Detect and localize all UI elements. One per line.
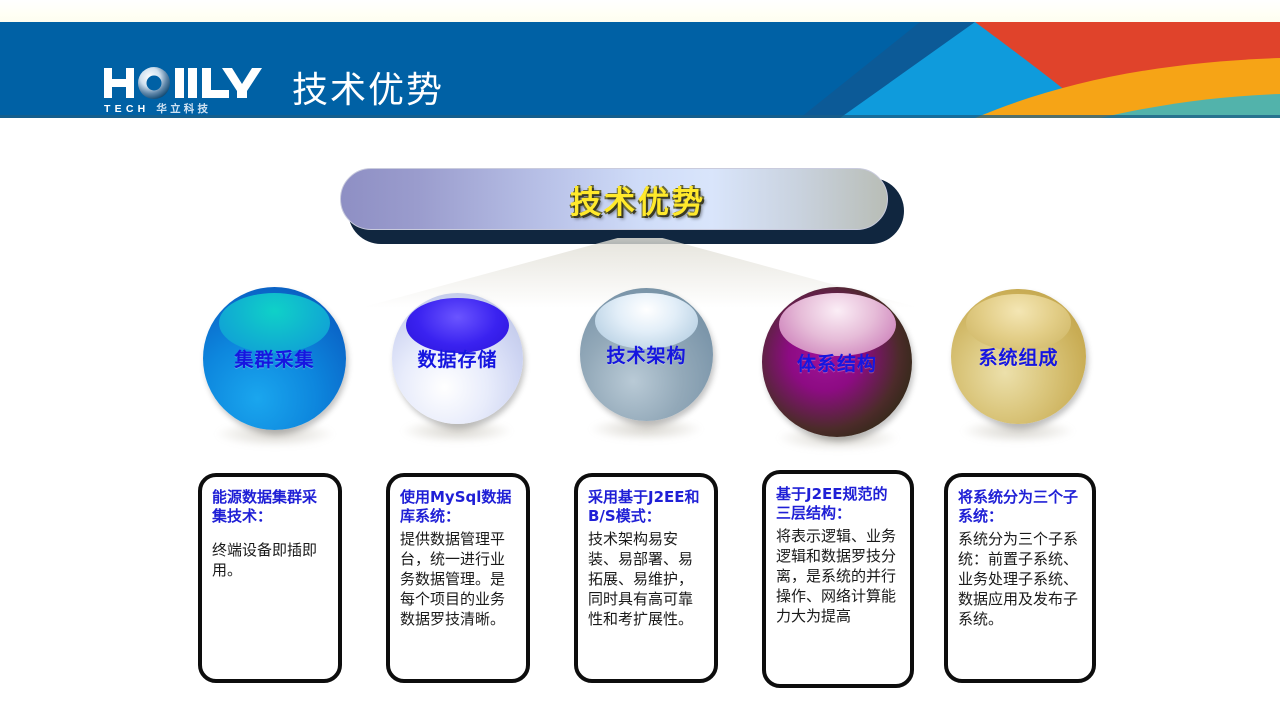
slide-root: TECH 华立科技 技术优势 技术优势 集群采集数据存储技术架构体系结构系统组成…: [0, 0, 1280, 720]
card-body: 提供数据管理平台，统一进行业务数据管理。是每个项目的业务数据罗技清晰。: [400, 529, 518, 629]
card-body: 终端设备即插即用。: [212, 540, 330, 580]
holley-wordmark: [104, 66, 268, 100]
sphere-highlight-cap: [779, 293, 896, 356]
title-banner: 技术优势: [340, 168, 896, 240]
card-1[interactable]: 能源数据集群采集技术：终端设备即插即用。: [198, 473, 342, 683]
logo-tech-text: TECH: [104, 104, 149, 115]
card-title: 基于J2EE规范的三层结构：: [776, 485, 902, 523]
card-3[interactable]: 采用基于J2EE和B/S模式：技术架构易安装、易部署、易拓展、易维护，同时具有高…: [574, 473, 718, 683]
card-5[interactable]: 将系统分为三个子系统：系统分为三个子系统：前置子系统、业务处理子系统、数据应用及…: [944, 473, 1096, 683]
sphere-label: 系统组成: [978, 343, 1058, 370]
card-body: 系统分为三个子系统：前置子系统、业务处理子系统、数据应用及发布子系统。: [958, 529, 1084, 629]
sphere-2[interactable]: 数据存储: [392, 293, 523, 424]
logo-chinese-text: 华立科技: [156, 104, 211, 115]
title-banner-pill: 技术优势: [340, 168, 888, 230]
sphere-label: 数据存储: [417, 345, 497, 372]
card-body: 技术架构易安装、易部署、易拓展、易维护，同时具有高可靠性和考扩展性。: [588, 529, 706, 629]
title-banner-label: 技术优势: [570, 177, 706, 222]
top-strip: [0, 0, 1280, 22]
page-title: 技术优势: [292, 68, 444, 114]
card-title: 使用MySql数据库系统：: [400, 488, 518, 526]
holley-logo: TECH 华立科技: [104, 66, 268, 118]
header-swoosh-graphic: [800, 22, 1280, 118]
sphere-label: 技术架构: [606, 341, 686, 368]
card-2[interactable]: 使用MySql数据库系统：提供数据管理平台，统一进行业务数据管理。是每个项目的业…: [386, 473, 530, 683]
sphere-highlight-cap: [219, 293, 331, 353]
sphere-label: 集群采集: [234, 345, 314, 372]
header-bar: TECH 华立科技 技术优势: [0, 22, 1280, 118]
sphere-1[interactable]: 集群采集: [203, 287, 346, 430]
card-body: 将表示逻辑、业务逻辑和数据罗技分离，是系统的并行操作、网络计算能力大为提高: [776, 526, 902, 626]
card-title: 将系统分为三个子系统：: [958, 488, 1084, 526]
card-title: 采用基于J2EE和B/S模式：: [588, 488, 706, 526]
sphere-5[interactable]: 系统组成: [951, 289, 1086, 424]
sphere-row: 集群采集数据存储技术架构体系结构系统组成: [0, 283, 1280, 453]
sphere-4[interactable]: 体系结构: [762, 287, 912, 437]
sphere-3[interactable]: 技术架构: [580, 288, 713, 421]
card-title: 能源数据集群采集技术：: [212, 488, 330, 526]
card-4[interactable]: 基于J2EE规范的三层结构：将表示逻辑、业务逻辑和数据罗技分离，是系统的并行操作…: [762, 470, 914, 688]
sphere-label: 体系结构: [797, 349, 877, 376]
